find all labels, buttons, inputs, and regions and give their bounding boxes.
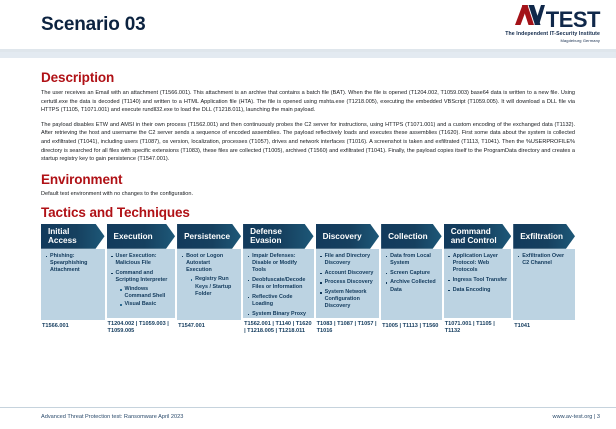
tactic-header: Defense Evasion bbox=[243, 224, 314, 249]
description-paragraph-2: The payload disables ETW and AMSI in the… bbox=[41, 121, 575, 164]
technique-list: Application Layer Protocol: Web Protocol… bbox=[448, 253, 508, 294]
page-root: Scenario 03 TEST The Independent IT-Secu… bbox=[0, 0, 616, 429]
technique-item: Application Layer Protocol: Web Protocol… bbox=[448, 253, 508, 275]
technique-list-cell: Boot or Logon Autostart ExecutionRegistr… bbox=[177, 249, 241, 320]
technique-list-cell: Impair Defenses: Disable or Modify Tools… bbox=[243, 249, 314, 318]
tactic-column-exfiltration: ExfiltrationExfiltration Over C2 Channel… bbox=[513, 224, 575, 336]
technique-list-cell: Application Layer Protocol: Web Protocol… bbox=[444, 249, 512, 318]
technique-ids: T1562.001 | T1140 | T1620 | T1218.005 | … bbox=[243, 318, 314, 336]
tactic-header: Exfiltration bbox=[513, 224, 575, 249]
technique-item: Command and Scripting InterpreterWindows… bbox=[111, 270, 172, 309]
sub-technique-item: Registry Run Keys / Startup Folder bbox=[190, 276, 237, 298]
tactic-column-discovery: DiscoveryFile and Directory DiscoveryAcc… bbox=[316, 224, 380, 336]
technique-item: System Network Configuration Discovery bbox=[320, 289, 376, 311]
technique-item: Reflective Code Loading bbox=[247, 294, 310, 308]
technique-ids: T1005 | T1113 | T1560 bbox=[381, 320, 442, 336]
tactic-header: Collection bbox=[381, 224, 442, 249]
environment-heading: Environment bbox=[41, 172, 575, 187]
page-content: Description The user receives an Email w… bbox=[0, 58, 616, 336]
tactic-column-command-and-control: Command and ControlApplication Layer Pro… bbox=[444, 224, 512, 336]
technique-list: User Execution: Malicious FileCommand an… bbox=[111, 253, 172, 309]
technique-ids: T1204.002 | T1059.003 | T1059.005 bbox=[107, 318, 176, 336]
technique-list: File and Directory DiscoveryAccount Disc… bbox=[320, 253, 376, 311]
technique-item: Archive Collected Data bbox=[385, 279, 438, 293]
technique-list-cell: File and Directory DiscoveryAccount Disc… bbox=[316, 249, 380, 318]
technique-item: File and Directory Discovery bbox=[320, 253, 376, 267]
logo-tagline: The Independent IT-Security Institute bbox=[505, 32, 600, 37]
tactics-heading: Tactics and Techniques bbox=[41, 205, 575, 220]
technique-item: Phishing: Spearphishing Attachment bbox=[45, 253, 101, 275]
technique-list: Exfiltration Over C2 Channel bbox=[517, 253, 571, 267]
tactic-column-execution: ExecutionUser Execution: Malicious FileC… bbox=[107, 224, 176, 336]
technique-ids: T1566.001 bbox=[41, 320, 105, 336]
page-footer: Advanced Threat Protection test: Ransomw… bbox=[0, 407, 616, 429]
tactic-header: Command and Control bbox=[444, 224, 512, 249]
av-mark-icon bbox=[515, 5, 545, 30]
technique-item: Boot or Logon Autostart ExecutionRegistr… bbox=[181, 253, 237, 298]
environment-text: Default test environment with no changes… bbox=[41, 191, 575, 197]
tactic-header: Execution bbox=[107, 224, 176, 249]
avtest-logo: TEST The Independent IT-Security Institu… bbox=[505, 8, 600, 43]
page-header: Scenario 03 TEST The Independent IT-Secu… bbox=[0, 0, 616, 52]
sub-technique-item: Visual Basic bbox=[120, 301, 172, 308]
sub-technique-list: Registry Run Keys / Startup Folder bbox=[190, 276, 237, 298]
technique-list: Phishing: Spearphishing Attachment bbox=[45, 253, 101, 275]
technique-list-cell: User Execution: Malicious FileCommand an… bbox=[107, 249, 176, 318]
technique-ids: T1071.001 | T1105 | T1132 bbox=[444, 318, 512, 336]
technique-item: Impair Defenses: Disable or Modify Tools bbox=[247, 253, 310, 275]
technique-ids: T1547.001 bbox=[177, 320, 241, 336]
technique-list-cell: Exfiltration Over C2 Channel bbox=[513, 249, 575, 320]
logo-wordmark: TEST bbox=[546, 10, 600, 30]
technique-ids: T1083 | T1087 | T1057 | T1016 bbox=[316, 318, 380, 336]
footer-url-page: www.av-test.org | 3 bbox=[553, 414, 600, 420]
technique-item: Data from Local System bbox=[385, 253, 438, 267]
tactic-column-defense-evasion: Defense EvasionImpair Defenses: Disable … bbox=[243, 224, 314, 336]
technique-list: Data from Local SystemScreen CaptureArch… bbox=[385, 253, 438, 294]
tactic-column-persistence: PersistenceBoot or Logon Autostart Execu… bbox=[177, 224, 241, 336]
technique-item: Exfiltration Over C2 Channel bbox=[517, 253, 571, 267]
technique-item: User Execution: Malicious File bbox=[111, 253, 172, 267]
technique-item: Data Encoding bbox=[448, 287, 508, 294]
technique-item: Account Discovery bbox=[320, 270, 376, 277]
technique-item: Process Discovery bbox=[320, 279, 376, 286]
technique-item: System Binary Proxy Execution: Mshta bbox=[247, 311, 310, 318]
tactics-table: Initial AccessPhishing: Spearphishing At… bbox=[41, 224, 575, 336]
technique-list: Boot or Logon Autostart ExecutionRegistr… bbox=[181, 253, 237, 298]
technique-list: Impair Defenses: Disable or Modify Tools… bbox=[247, 253, 310, 318]
technique-item: Deobfuscate/Decode Files or Information bbox=[247, 277, 310, 291]
logo-location: Magdeburg Germany bbox=[505, 39, 600, 43]
technique-item: Screen Capture bbox=[385, 270, 438, 277]
footer-test-name: Advanced Threat Protection test: Ransomw… bbox=[41, 414, 183, 420]
tactic-column-collection: CollectionData from Local SystemScreen C… bbox=[381, 224, 442, 336]
sub-technique-item: Windows Command Shell bbox=[120, 286, 172, 300]
description-paragraph-1: The user receives an Email with an attac… bbox=[41, 89, 575, 115]
tactic-header: Initial Access bbox=[41, 224, 105, 249]
technique-ids: T1041 bbox=[513, 320, 575, 336]
page-title: Scenario 03 bbox=[41, 14, 145, 36]
tactic-header: Discovery bbox=[316, 224, 380, 249]
technique-list-cell: Phishing: Spearphishing Attachment bbox=[41, 249, 105, 320]
tactic-header: Persistence bbox=[177, 224, 241, 249]
tactic-column-initial-access: Initial AccessPhishing: Spearphishing At… bbox=[41, 224, 105, 336]
technique-item: Ingress Tool Transfer bbox=[448, 277, 508, 284]
description-heading: Description bbox=[41, 70, 575, 85]
technique-list-cell: Data from Local SystemScreen CaptureArch… bbox=[381, 249, 442, 320]
sub-technique-list: Windows Command ShellVisual Basic bbox=[120, 286, 172, 309]
